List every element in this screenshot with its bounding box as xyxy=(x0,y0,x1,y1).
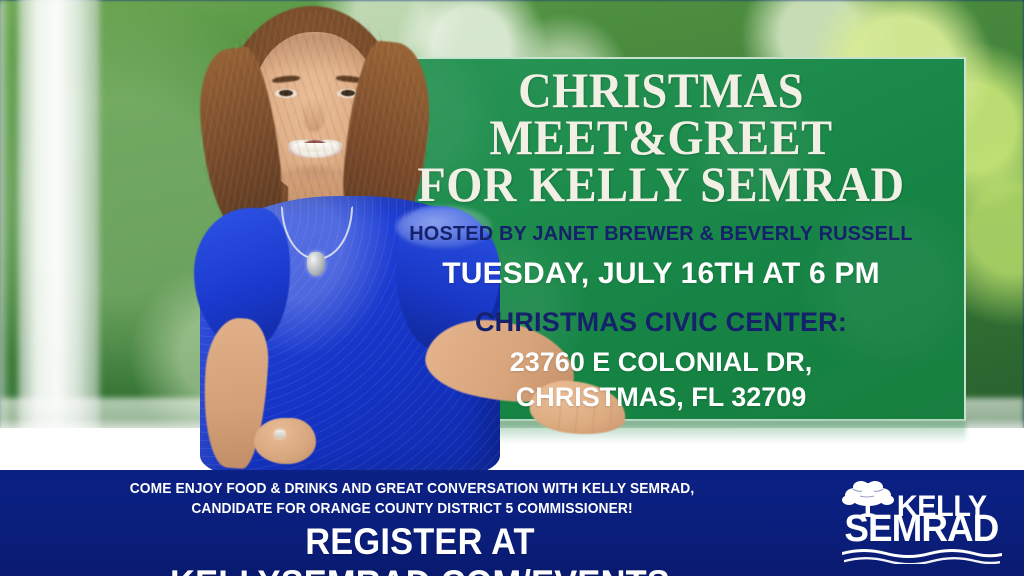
blurb-line-1: COME ENJOY FOOD & DRINKS AND GREAT CONVE… xyxy=(70,479,754,499)
necklace-pendant xyxy=(307,252,325,276)
bottom-blurb: COME ENJOY FOOD & DRINKS AND GREAT CONVE… xyxy=(40,479,784,518)
logo-semrad-text: SEMRAD xyxy=(844,514,998,545)
register-cta[interactable]: REGISTER AT KELLYSEMRAD.COM/EVENTS xyxy=(67,521,774,576)
porch-column xyxy=(18,0,100,440)
event-details: CHRISTMAS MEET&GREET FOR KELLY SEMRAD HO… xyxy=(356,57,966,421)
porch-column-far xyxy=(0,0,6,440)
campaign-logo[interactable]: KELLY SEMRAD xyxy=(840,478,1008,564)
ring xyxy=(275,430,285,438)
hand-left xyxy=(254,418,316,464)
water-waves-icon xyxy=(842,546,1002,564)
address-line-2: CHRISTMAS, FL 32709 xyxy=(356,380,966,415)
headline-line-2: FOR KELLY SEMRAD xyxy=(377,161,944,208)
blurb-line-2: CANDIDATE FOR ORANGE COUNTY DISTRICT 5 C… xyxy=(70,499,754,519)
headline: CHRISTMAS MEET&GREET FOR KELLY SEMRAD xyxy=(377,67,944,208)
venue-name: CHRISTMAS CIVIC CENTER: xyxy=(356,307,966,338)
hosted-by-text: HOSTED BY JANET BREWER & BEVERLY RUSSELL xyxy=(365,222,957,246)
event-datetime: TUESDAY, JULY 16TH AT 6 PM xyxy=(356,257,966,291)
campaign-event-flyer: CHRISTMAS MEET&GREET FOR KELLY SEMRAD HO… xyxy=(0,0,1024,576)
venue-address: 23760 E COLONIAL DR, CHRISTMAS, FL 32709 xyxy=(356,345,966,414)
address-line-1: 23760 E COLONIAL DR, xyxy=(356,345,966,380)
headline-line-1: CHRISTMAS MEET&GREET xyxy=(377,67,944,161)
